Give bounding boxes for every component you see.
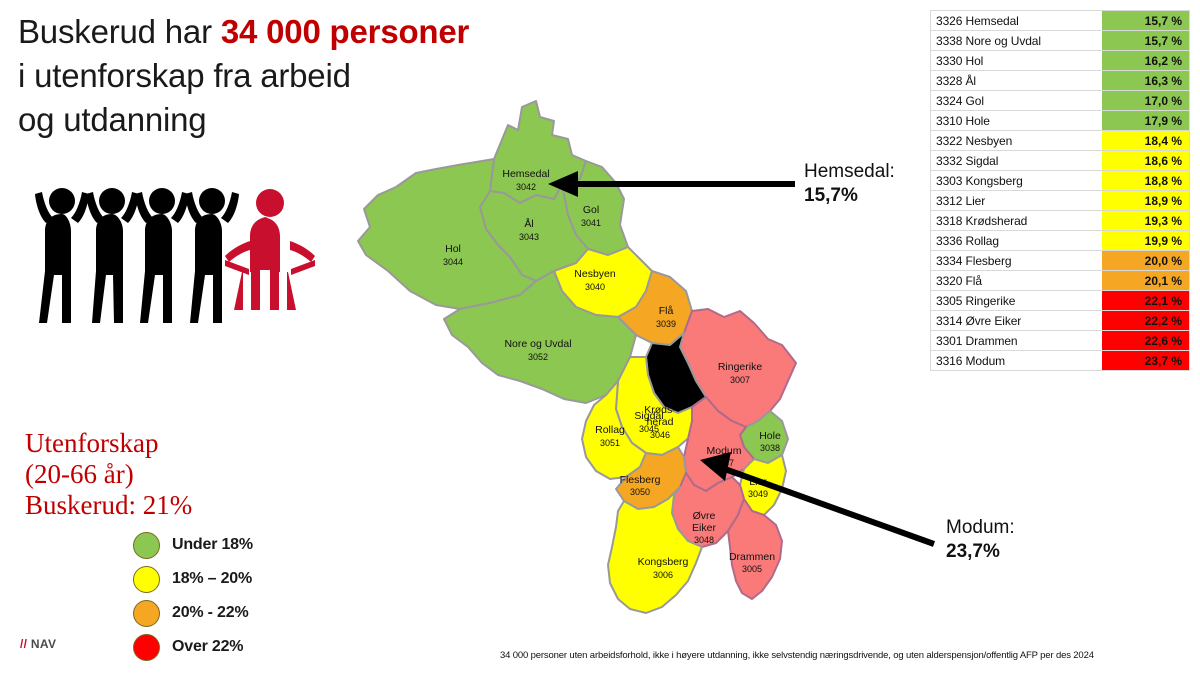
table-row[interactable]: 3338 Nore og Uvdal15,7 % bbox=[930, 31, 1190, 51]
table-cell-percentage: 22,2 % bbox=[1102, 311, 1190, 330]
map-code-nore-og-uvdal: 3052 bbox=[528, 352, 548, 362]
legend-color-swatch bbox=[133, 634, 160, 661]
map-regions bbox=[358, 101, 796, 613]
map-label-kongsberg: Kongsberg bbox=[638, 556, 689, 568]
nav-logo: // NAV bbox=[20, 637, 56, 651]
legend-color-swatch bbox=[133, 600, 160, 627]
legend-color-swatch bbox=[133, 532, 160, 559]
callout-modum: Modum: 23,7% bbox=[946, 516, 1015, 564]
table-cell-percentage: 20,1 % bbox=[1102, 271, 1190, 290]
table-cell-percentage: 18,9 % bbox=[1102, 191, 1190, 210]
map-svg: Hemsedal3042Gol3041Ål3043Hol3044Nesbyen3… bbox=[340, 95, 860, 640]
table-row[interactable]: 3334 Flesberg20,0 % bbox=[930, 251, 1190, 271]
callout-hemsedal: Hemsedal: 15,7% bbox=[804, 160, 895, 208]
buskerud-map: Hemsedal3042Gol3041Ål3043Hol3044Nesbyen3… bbox=[340, 95, 860, 640]
map-label-flesberg: Flesberg bbox=[620, 474, 661, 486]
callout-modum-value: 23,7% bbox=[946, 540, 1015, 564]
table-cell-municipality: 3336 Rollag bbox=[930, 231, 1102, 250]
excluded-person-icon bbox=[225, 189, 315, 310]
table-cell-percentage: 22,1 % bbox=[1102, 291, 1190, 310]
table-cell-municipality: 3320 Flå bbox=[930, 271, 1102, 290]
map-label-krodsherad: 3046 bbox=[650, 430, 670, 440]
table-cell-municipality: 3332 Sigdal bbox=[930, 151, 1102, 170]
nav-logo-text: NAV bbox=[31, 637, 56, 651]
map-label-al: Ål bbox=[524, 217, 533, 230]
legend-item: 20% - 22% bbox=[133, 596, 325, 630]
table-cell-percentage: 20,0 % bbox=[1102, 251, 1190, 270]
table-cell-municipality: 3328 Ål bbox=[930, 71, 1102, 90]
table-cell-percentage: 18,6 % bbox=[1102, 151, 1190, 170]
legend-item: 18% – 20% bbox=[133, 562, 325, 596]
title-highlight-number: 34 000 personer bbox=[221, 13, 469, 50]
table-cell-municipality: 3324 Gol bbox=[930, 91, 1102, 110]
map-code-gol: 3041 bbox=[581, 218, 601, 228]
table-cell-municipality: 3314 Øvre Eiker bbox=[930, 311, 1102, 330]
map-label-ringerike: Ringerike bbox=[718, 361, 763, 373]
municipality-rank-table: 3326 Hemsedal15,7 %3338 Nore og Uvdal15,… bbox=[930, 10, 1190, 371]
table-cell-municipality: 3312 Lier bbox=[930, 191, 1102, 210]
map-label-ovre-eiker: Eiker bbox=[692, 522, 716, 534]
table-row[interactable]: 3305 Ringerike22,1 % bbox=[930, 291, 1190, 311]
table-cell-percentage: 19,3 % bbox=[1102, 211, 1190, 230]
table-cell-municipality: 3330 Hol bbox=[930, 51, 1102, 70]
map-code-rollag: 3051 bbox=[600, 438, 620, 448]
table-cell-municipality: 3334 Flesberg bbox=[930, 251, 1102, 270]
table-row[interactable]: 3301 Drammen22,6 % bbox=[930, 331, 1190, 351]
map-code-drammen: 3005 bbox=[742, 564, 762, 574]
legend-heading-line-2: (20-66 år) bbox=[25, 459, 325, 490]
table-row[interactable]: 3330 Hol16,2 % bbox=[930, 51, 1190, 71]
callout-hemsedal-name: Hemsedal: bbox=[804, 160, 895, 184]
map-label-gol: Gol bbox=[583, 204, 599, 216]
table-cell-percentage: 18,4 % bbox=[1102, 131, 1190, 150]
table-cell-percentage: 17,9 % bbox=[1102, 111, 1190, 130]
table-cell-percentage: 18,8 % bbox=[1102, 171, 1190, 190]
table-cell-percentage: 17,0 % bbox=[1102, 91, 1190, 110]
table-cell-percentage: 22,6 % bbox=[1102, 331, 1190, 350]
legend-item: Under 18% bbox=[133, 528, 325, 562]
legend-item-label: Over 22% bbox=[172, 638, 243, 656]
map-code-flesberg: 3050 bbox=[630, 487, 650, 497]
map-label-rollag: Rollag bbox=[595, 424, 625, 436]
table-cell-municipality: 3338 Nore og Uvdal bbox=[930, 31, 1102, 50]
map-label-modum: Modum bbox=[706, 445, 741, 457]
table-row[interactable]: 3316 Modum23,7 % bbox=[930, 351, 1190, 371]
callout-modum-name: Modum: bbox=[946, 516, 1015, 540]
map-label-ovre-eiker: Øvre bbox=[693, 510, 716, 522]
table-row[interactable]: 3310 Hole17,9 % bbox=[930, 111, 1190, 131]
table-row[interactable]: 3336 Rollag19,9 % bbox=[930, 231, 1190, 251]
table-row[interactable]: 3312 Lier18,9 % bbox=[930, 191, 1190, 211]
map-code-hol: 3044 bbox=[443, 257, 463, 267]
map-label-lier: Lier bbox=[749, 476, 767, 488]
legend-heading-line-1: Utenforskap bbox=[25, 428, 325, 459]
people-pictogram bbox=[22, 183, 322, 323]
table-row[interactable]: 3318 Krødsherad19,3 % bbox=[930, 211, 1190, 231]
map-code-nesbyen: 3040 bbox=[585, 282, 605, 292]
map-label-krodsherad: herad bbox=[647, 416, 674, 428]
pictogram-svg bbox=[22, 183, 322, 323]
map-code-lier: 3049 bbox=[748, 489, 768, 499]
map-label-nesbyen: Nesbyen bbox=[574, 268, 616, 280]
title-line-1: Buskerud har 34 000 personer bbox=[18, 10, 578, 54]
map-label-drammen: Drammen bbox=[729, 551, 775, 563]
person-icon-2 bbox=[86, 188, 139, 323]
person-icon-3 bbox=[135, 188, 189, 323]
table-row[interactable]: 3326 Hemsedal15,7 % bbox=[930, 10, 1190, 31]
table-cell-percentage: 16,2 % bbox=[1102, 51, 1190, 70]
table-cell-municipality: 3305 Ringerike bbox=[930, 291, 1102, 310]
title-line-1-prefix: Buskerud har bbox=[18, 13, 221, 50]
legend-item-label: Under 18% bbox=[172, 536, 253, 554]
map-label-fla: Flå bbox=[659, 305, 674, 317]
table-cell-percentage: 15,7 % bbox=[1102, 11, 1190, 30]
callout-hemsedal-value: 15,7% bbox=[804, 184, 895, 208]
table-row[interactable]: 3320 Flå20,1 % bbox=[930, 271, 1190, 291]
map-label-hole: Hole bbox=[759, 430, 781, 442]
legend-item-label: 18% – 20% bbox=[172, 570, 252, 588]
person-icon-1 bbox=[35, 188, 89, 323]
table-cell-percentage: 15,7 % bbox=[1102, 31, 1190, 50]
map-label-krodsherad: Krøds- bbox=[644, 404, 676, 416]
legend-heading-line-3: Buskerud: 21% bbox=[25, 490, 325, 521]
legend-item: Over 22% bbox=[133, 630, 325, 664]
table-row[interactable]: 3303 Kongsberg18,8 % bbox=[930, 171, 1190, 191]
table-cell-percentage: 16,3 % bbox=[1102, 71, 1190, 90]
table-cell-municipality: 3301 Drammen bbox=[930, 331, 1102, 350]
table-cell-municipality: 3316 Modum bbox=[930, 351, 1102, 370]
footnote: 34 000 personer uten arbeidsforhold, ikk… bbox=[500, 650, 1190, 661]
legend: Utenforskap (20-66 år) Buskerud: 21% Und… bbox=[25, 428, 325, 664]
map-label-hol: Hol bbox=[445, 243, 461, 255]
legend-item-label: 20% - 22% bbox=[172, 604, 248, 622]
map-code-ringerike: 3007 bbox=[730, 375, 750, 385]
legend-items: Under 18%18% – 20%20% - 22%Over 22% bbox=[133, 528, 325, 664]
map-code-al: 3043 bbox=[519, 232, 539, 242]
table-cell-percentage: 19,9 % bbox=[1102, 231, 1190, 250]
legend-color-swatch bbox=[133, 566, 160, 593]
map-code-fla: 3039 bbox=[656, 319, 676, 329]
map-code-modum: 3047 bbox=[714, 458, 734, 468]
map-label-nore-og-uvdal: Nore og Uvdal bbox=[504, 338, 571, 350]
map-code-hemsedal: 3042 bbox=[516, 182, 536, 192]
map-code-kongsberg: 3006 bbox=[653, 570, 673, 580]
table-cell-municipality: 3310 Hole bbox=[930, 111, 1102, 130]
map-code-ovre-eiker: 3048 bbox=[694, 535, 714, 545]
table-cell-municipality: 3326 Hemsedal bbox=[930, 11, 1102, 30]
table-row[interactable]: 3324 Gol17,0 % bbox=[930, 91, 1190, 111]
table-row[interactable]: 3332 Sigdal18,6 % bbox=[930, 151, 1190, 171]
table-row[interactable]: 3322 Nesbyen18,4 % bbox=[930, 131, 1190, 151]
included-people-group bbox=[35, 188, 239, 323]
title-line-2: i utenforskap fra arbeid bbox=[18, 54, 578, 98]
map-label-hemsedal: Hemsedal bbox=[502, 168, 549, 180]
nav-logo-slashes: // bbox=[20, 637, 27, 651]
map-code-hole: 3038 bbox=[760, 443, 780, 453]
table-cell-municipality: 3318 Krødsherad bbox=[930, 211, 1102, 230]
table-cell-municipality: 3322 Nesbyen bbox=[930, 131, 1102, 150]
table-row[interactable]: 3314 Øvre Eiker22,2 % bbox=[930, 311, 1190, 331]
table-cell-percentage: 23,7 % bbox=[1102, 351, 1190, 370]
table-row[interactable]: 3328 Ål16,3 % bbox=[930, 71, 1190, 91]
table-cell-municipality: 3303 Kongsberg bbox=[930, 171, 1102, 190]
